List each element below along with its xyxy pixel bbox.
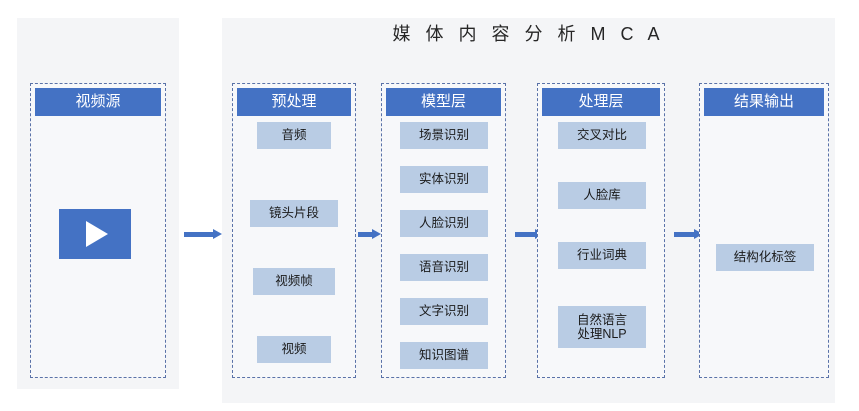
stage-header-model-layer: 模型层 (386, 88, 501, 116)
arrow-head (372, 229, 381, 239)
page-title: 媒 体 内 容 分 析 M C A (222, 20, 835, 46)
arrow-shaft (674, 232, 694, 237)
arrow-processing-to-output (674, 229, 702, 239)
stage-model-layer[interactable]: 模型层 场景识别 实体识别 人脸识别 语音识别 文字识别 知识图谱 (381, 83, 506, 378)
chip-audio[interactable]: 音频 (257, 122, 331, 149)
chip-video[interactable]: 视频 (257, 336, 331, 363)
chip-scene-recognition[interactable]: 场景识别 (400, 122, 488, 149)
chip-face-library[interactable]: 人脸库 (558, 182, 646, 209)
chip-cross-comparison[interactable]: 交叉对比 (558, 122, 646, 149)
chip-face-recognition[interactable]: 人脸识别 (400, 210, 488, 237)
chip-text-recognition[interactable]: 文字识别 (400, 298, 488, 325)
arrow-shaft (358, 232, 372, 237)
stage-header-preprocessing: 预处理 (237, 88, 351, 116)
stage-body-model-layer: 场景识别 实体识别 人脸识别 语音识别 文字识别 知识图谱 (382, 120, 505, 373)
arrow-pre-to-model (358, 229, 380, 239)
stage-header-processing-layer: 处理层 (542, 88, 660, 116)
arrow-shaft (515, 232, 535, 237)
play-icon[interactable] (59, 209, 131, 259)
chip-knowledge-graph[interactable]: 知识图谱 (400, 342, 488, 369)
stage-header-result-output: 结果输出 (704, 88, 824, 116)
chip-structured-tags[interactable]: 结构化标签 (716, 244, 814, 271)
stage-preprocessing[interactable]: 预处理 音频 镜头片段 视频帧 视频 (232, 83, 356, 378)
arrow-head (213, 229, 222, 239)
chip-nlp[interactable]: 自然语言 处理NLP (558, 306, 646, 348)
diagram-canvas: 媒 体 内 容 分 析 M C A 视频源 预处理 音频 镜头片段 视频帧 视频… (0, 0, 859, 411)
chip-speech-recognition[interactable]: 语音识别 (400, 254, 488, 281)
arrow-source-to-pre (184, 229, 222, 239)
arrow-shaft (184, 232, 213, 237)
stage-header-video-source: 视频源 (35, 88, 161, 116)
chip-industry-dictionary[interactable]: 行业词典 (558, 242, 646, 269)
play-triangle (86, 221, 108, 247)
stage-processing-layer[interactable]: 处理层 交叉对比 人脸库 行业词典 自然语言 处理NLP (537, 83, 665, 378)
stage-body-result-output: 结构化标签 (700, 120, 828, 373)
stage-body-preprocessing: 音频 镜头片段 视频帧 视频 (233, 120, 355, 373)
chip-shot-segment[interactable]: 镜头片段 (250, 200, 338, 227)
chip-entity-recognition[interactable]: 实体识别 (400, 166, 488, 193)
chip-video-frame[interactable]: 视频帧 (253, 268, 335, 295)
stage-result-output[interactable]: 结果输出 结构化标签 (699, 83, 829, 378)
stage-body-processing-layer: 交叉对比 人脸库 行业词典 自然语言 处理NLP (538, 120, 664, 373)
